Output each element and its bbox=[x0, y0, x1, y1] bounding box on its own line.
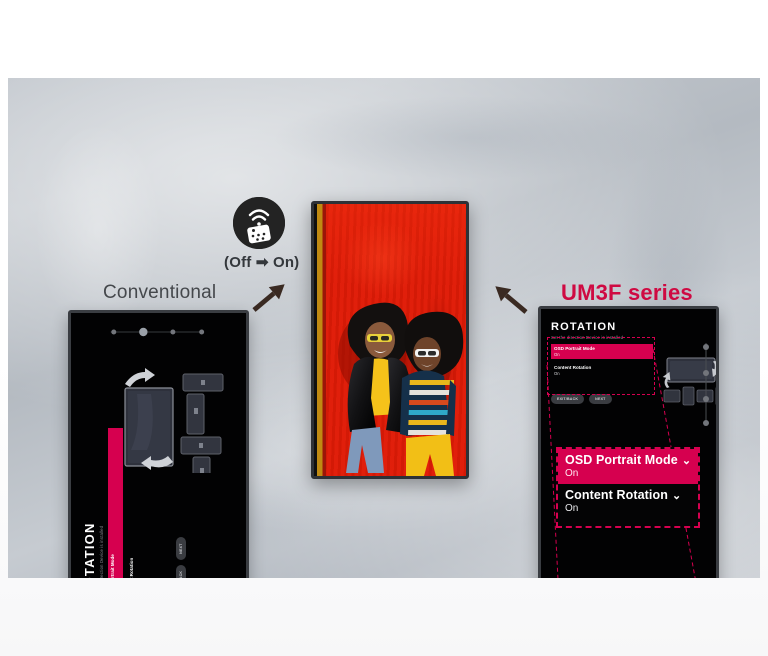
left-osd-row-value: On bbox=[116, 431, 121, 578]
callout-row-value: On bbox=[565, 503, 691, 514]
left-exit-back-button[interactable]: EXIT/BACK bbox=[176, 565, 186, 578]
left-osd-row-osd-portrait-mode[interactable]: OSD Portrait Mode On bbox=[108, 428, 123, 578]
left-osd-subtitle: Set the direction Device is installed bbox=[99, 428, 104, 578]
left-osd-title: ROTATION bbox=[82, 428, 97, 578]
arrow-up-left-icon bbox=[482, 276, 528, 316]
left-osd-buttons: EXIT/BACK NEXT bbox=[176, 537, 186, 578]
remote-control-icon bbox=[233, 197, 285, 249]
left-panel-screen: ROTATION Set the direction Device is ins… bbox=[71, 313, 246, 578]
right-exit-back-button[interactable]: EXIT/BACK bbox=[551, 394, 584, 404]
left-osd-row-label: Content Rotation bbox=[129, 431, 134, 578]
label-um3f-series: UM3F series bbox=[561, 280, 693, 306]
left-display-panel: ROTATION Set the direction Device is ins… bbox=[68, 310, 249, 578]
osd-menu-highlight-region bbox=[547, 337, 655, 395]
display-screen bbox=[314, 204, 466, 476]
osd-menu-magnified-callout: OSD Portrait Mode⌄ On Content Rotation⌄ … bbox=[556, 447, 700, 528]
callout-row-value: On bbox=[565, 468, 691, 479]
arrow-up-right-icon bbox=[252, 274, 298, 314]
chevron-down-icon[interactable]: ⌄ bbox=[672, 489, 681, 502]
center-portrait-display bbox=[311, 201, 469, 479]
display-content-photo bbox=[314, 204, 466, 476]
right-osd-title: ROTATION bbox=[551, 321, 671, 333]
off-to-on-label: (Off ➡ On) bbox=[224, 253, 299, 271]
right-osd-buttons: EXIT/BACK NEXT bbox=[551, 394, 671, 404]
left-osd-row-value: On bbox=[135, 431, 140, 578]
page-root: (Off ➡ On) Conventional UM3F series Manu… bbox=[0, 0, 768, 656]
callout-label-text: OSD Portrait Mode bbox=[565, 453, 678, 467]
chevron-down-icon[interactable]: ⌄ bbox=[682, 454, 691, 467]
left-osd-row-label: OSD Portrait Mode bbox=[110, 431, 115, 578]
label-conventional: Conventional bbox=[103, 282, 216, 304]
right-next-button[interactable]: NEXT bbox=[589, 394, 611, 404]
left-osd-row-content-rotation[interactable]: Content Rotation On bbox=[127, 428, 142, 578]
callout-row-osd-portrait-mode[interactable]: OSD Portrait Mode⌄ On bbox=[558, 449, 698, 484]
callout-row-label: Content Rotation⌄ bbox=[565, 488, 691, 502]
callout-row-label: OSD Portrait Mode⌄ bbox=[565, 453, 691, 467]
right-panel-indicator-dots bbox=[700, 339, 712, 429]
left-panel-osd-menu: ROTATION Set the direction Device is ins… bbox=[82, 428, 202, 578]
right-display-panel: ROTATION Set the direction Device is ins… bbox=[538, 306, 719, 578]
panel-top-indicator-dots bbox=[71, 325, 246, 339]
right-panel-screen: ROTATION Set the direction Device is ins… bbox=[541, 309, 716, 578]
left-next-button[interactable]: NEXT bbox=[176, 537, 186, 559]
product-scene: (Off ➡ On) Conventional UM3F series Manu… bbox=[8, 78, 760, 578]
callout-row-content-rotation[interactable]: Content Rotation⌄ On bbox=[558, 484, 698, 519]
callout-label-text: Content Rotation bbox=[565, 488, 668, 502]
